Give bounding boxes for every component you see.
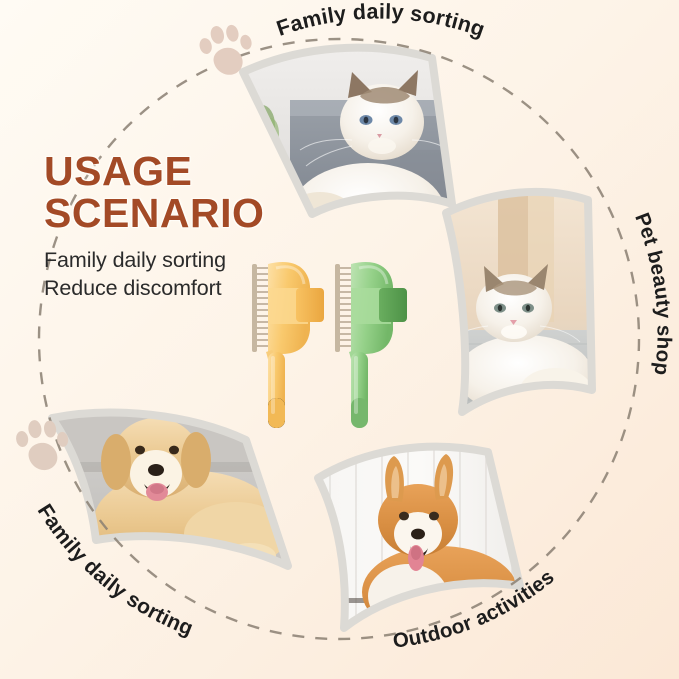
page-title-line-2: SCENARIO bbox=[44, 192, 314, 234]
subtitle-line-2: Reduce discomfort bbox=[44, 275, 314, 303]
subtitle-line-1: Family daily sorting bbox=[44, 247, 314, 275]
scenario-photo-wheel bbox=[0, 0, 679, 679]
photo-right-pet-beauty-shop bbox=[430, 180, 610, 430]
page-title-line-1: USAGE bbox=[44, 150, 314, 192]
usage-scenario-poster: Family daily sorting Pet beauty shop Out… bbox=[0, 0, 679, 679]
headline-block: USAGE SCENARIO Family daily sorting Redu… bbox=[44, 150, 314, 302]
subtitle-block: Family daily sorting Reduce discomfort bbox=[44, 247, 314, 302]
